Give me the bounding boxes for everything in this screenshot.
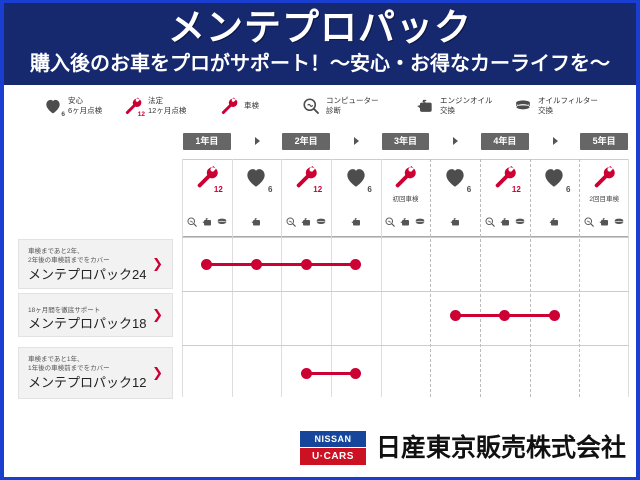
package-row-1[interactable]: 車検まであと2年、2年後の車検前までをカバーメンテプロパック24❯	[18, 239, 173, 289]
timeline-grid: 126126初回車検61262回目車検	[182, 159, 629, 397]
coverage-dot-1-4	[350, 259, 361, 270]
service-badge: 6	[467, 185, 471, 194]
oil-can-icon	[250, 216, 262, 228]
oil-can-icon	[414, 94, 436, 118]
year-chip-3: 3年目	[382, 133, 430, 150]
legend-label: 車検	[244, 101, 259, 111]
service-cell-5: 初回車検	[381, 159, 431, 237]
coverage-dot-1-2	[251, 259, 262, 270]
legend-label: 法定12ヶ月点検	[148, 96, 186, 116]
service-cell-6: 6	[430, 159, 480, 237]
service-badge: 6	[268, 185, 272, 194]
service-sub-icons	[381, 216, 431, 228]
year-arrow-2	[354, 137, 359, 145]
grid-row-line-1	[182, 237, 629, 238]
chevron-right-icon[interactable]: ❯	[152, 256, 163, 272]
heart-icon: 6	[42, 94, 64, 118]
magnifier-icon	[300, 94, 322, 118]
coverage-dot-3-2	[350, 368, 361, 379]
legend-item-3: 車検	[218, 91, 259, 121]
year-chip-2: 2年目	[282, 133, 330, 150]
chevron-right-icon[interactable]: ❯	[152, 365, 163, 381]
chevron-right-icon[interactable]: ❯	[152, 307, 163, 323]
logo-ucars-text: U·CARS	[300, 448, 366, 465]
legend-badge: 6	[61, 111, 65, 118]
coverage-dot-3-1	[301, 368, 312, 379]
legend-item-2: 12法定12ヶ月点検	[122, 91, 186, 121]
package-name: メンテプロパック24	[28, 267, 146, 283]
legend-bar: 6安心6ヶ月点検12法定12ヶ月点検車検コンピューター診断エンジンオイル交換オイ…	[4, 85, 636, 128]
year-chip-5: 5年目	[580, 133, 628, 150]
service-sub-icons	[430, 216, 480, 228]
heart-icon: 6	[343, 164, 369, 195]
service-badge: 12	[313, 185, 322, 194]
package-row-2[interactable]: 18ヶ月間を徹底サポートメンテプロパック18❯	[18, 293, 173, 337]
oil-can-icon	[449, 216, 461, 228]
year-arrow-3	[453, 137, 458, 145]
year-arrow-1	[255, 137, 260, 145]
service-cell-3: 12	[281, 159, 331, 237]
poster-frame: メンテプロパック 購入後のお車をプロがサポート！～安心・お得なカーライフを～ 6…	[4, 3, 636, 477]
service-badge: 6	[566, 185, 570, 194]
oil-can-icon	[350, 216, 362, 228]
oil-filter-icon	[414, 216, 426, 228]
coverage-dot-1-1	[201, 259, 212, 270]
oil-can-icon	[399, 216, 411, 228]
service-sub-icons	[281, 216, 331, 228]
service-caption: 初回車検	[381, 195, 431, 204]
oil-filter-icon	[315, 216, 327, 228]
heart-icon: 6	[541, 164, 567, 195]
magnifier-icon	[384, 216, 396, 228]
package-name: メンテプロパック18	[28, 316, 146, 332]
service-cell-4: 6	[331, 159, 381, 237]
oil-filter-icon	[216, 216, 228, 228]
package-note-line2: 1年後の車検前までをカバー	[28, 364, 110, 373]
oil-filter-icon	[514, 216, 526, 228]
coverage-dot-2-3	[549, 310, 560, 321]
grid-row-line-3	[182, 345, 629, 346]
package-note-line1: 車検まであと1年、	[28, 355, 84, 364]
service-cell-2: 6	[232, 159, 282, 237]
service-caption: 2回目車検	[579, 195, 629, 204]
service-cell-7: 12	[480, 159, 530, 237]
magnifier-icon	[583, 216, 595, 228]
package-row-3[interactable]: 車検まであと1年、1年後の車検前までをカバーメンテプロパック12❯	[18, 347, 173, 399]
wrench-icon: 12	[492, 164, 518, 195]
wrench-icon	[591, 164, 617, 195]
service-cell-1: 12	[182, 159, 232, 237]
service-sub-icons	[331, 216, 381, 228]
service-badge: 6	[367, 185, 371, 194]
year-arrow-4	[553, 137, 558, 145]
legend-item-1: 6安心6ヶ月点検	[42, 91, 102, 121]
heart-icon: 6	[243, 164, 269, 195]
oil-filter-icon	[613, 216, 625, 228]
oil-can-icon	[548, 216, 560, 228]
coverage-dot-2-1	[450, 310, 461, 321]
legend-item-4: コンピューター診断	[300, 91, 379, 121]
service-sub-icons	[232, 216, 282, 228]
company-name: 日産東京販売株式会社	[376, 431, 626, 465]
legend-item-5: エンジンオイル交換	[414, 91, 493, 121]
package-name: メンテプロパック12	[28, 375, 146, 391]
wrench-icon	[218, 94, 240, 118]
legend-label: エンジンオイル交換	[440, 96, 493, 116]
oil-filter-icon	[512, 94, 534, 118]
service-sub-icons	[579, 216, 629, 228]
wrench-icon	[392, 164, 418, 195]
legend-label: 安心6ヶ月点検	[68, 96, 102, 116]
year-chip-4: 4年目	[481, 133, 529, 150]
wrench-icon: 12	[293, 164, 319, 195]
wrench-icon: 12	[122, 94, 144, 118]
package-note-line1: 車検まであと2年、	[28, 247, 84, 256]
oil-can-icon	[300, 216, 312, 228]
service-sub-icons	[480, 216, 530, 228]
magnifier-icon	[186, 216, 198, 228]
magnifier-icon	[484, 216, 496, 228]
wrench-icon: 12	[194, 164, 220, 195]
package-note-line2: 2年後の車検前までをカバー	[28, 256, 110, 265]
service-sub-icons	[530, 216, 580, 228]
grid-row-line-2	[182, 291, 629, 292]
year-axis: 1年目2年目3年目4年目5年目	[174, 133, 634, 155]
page-title: メンテプロパック	[4, 5, 636, 50]
package-note-line1: 18ヶ月間を徹底サポート	[28, 306, 100, 315]
legend-label: オイルフィルター交換	[538, 96, 598, 116]
oil-can-icon	[598, 216, 610, 228]
service-badge: 12	[214, 185, 223, 194]
service-sub-icons	[182, 216, 232, 228]
service-cell-8: 6	[530, 159, 580, 237]
legend-label: コンピューター診断	[326, 96, 379, 116]
header-banner: メンテプロパック 購入後のお車をプロがサポート！～安心・お得なカーライフを～	[4, 3, 636, 85]
logo-nissan-text: NISSAN	[300, 431, 366, 447]
coverage-bar-3	[306, 372, 356, 375]
year-chip-1: 1年目	[183, 133, 231, 150]
oil-can-icon	[499, 216, 511, 228]
coverage-bar-1	[207, 263, 356, 266]
service-badge: 12	[512, 185, 521, 194]
nissan-ucars-logo: NISSAN U·CARS	[300, 431, 366, 465]
legend-item-6: オイルフィルター交換	[512, 91, 598, 121]
page-subtitle: 購入後のお車をプロがサポート！～安心・お得なカーライフを～	[4, 51, 636, 77]
coverage-dot-1-3	[301, 259, 312, 270]
legend-badge: 12	[138, 111, 145, 118]
service-cell-9: 2回目車検	[579, 159, 629, 237]
heart-icon: 6	[442, 164, 468, 195]
magnifier-icon	[285, 216, 297, 228]
coverage-dot-2-2	[499, 310, 510, 321]
oil-can-icon	[201, 216, 213, 228]
